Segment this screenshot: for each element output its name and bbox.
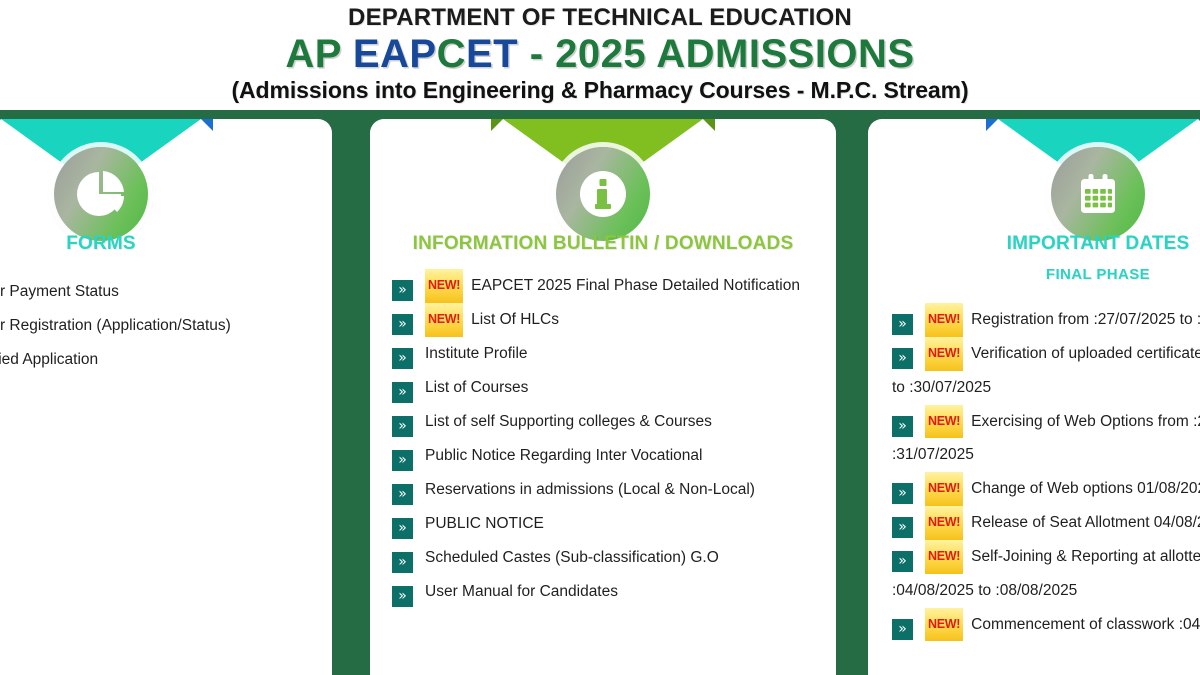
ribbon-tab-right — [201, 119, 213, 131]
list-item[interactable]: »PUBLIC NOTICE — [392, 507, 822, 541]
new-badge: NEW! — [425, 269, 463, 303]
list-item[interactable]: »NEW!EAPCET 2025 Final Phase Detailed No… — [392, 269, 822, 303]
list-item[interactable]: »NEW!Verification of uploaded certificat… — [892, 337, 1200, 404]
list-item-label: Change of Web options 01/08/2025 — [971, 480, 1200, 497]
list-item[interactable]: »Know Your Registration (Application/Sta… — [0, 309, 318, 343]
ribbon-tab-left — [491, 119, 503, 131]
list-item[interactable]: »NEW!List Of HLCs — [392, 303, 822, 337]
page-subtitle: (Admissions into Engineering & Pharmacy … — [0, 77, 1200, 103]
dates-heading: IMPORTANT DATES — [868, 233, 1200, 255]
chevron-right-icon: » — [392, 484, 413, 505]
list-item-label: Print Verified Application — [0, 351, 98, 368]
new-badge: NEW! — [925, 303, 963, 337]
list-item-label: Know Your Registration (Application/Stat… — [0, 317, 231, 334]
forms-list: »Know Your Payment Status »Know Your Reg… — [0, 275, 318, 377]
dates-subheading: FINAL PHASE — [868, 266, 1200, 283]
new-badge: NEW! — [925, 472, 963, 506]
new-badge: NEW! — [925, 608, 963, 642]
info-circle-icon — [556, 147, 650, 241]
chevron-right-icon: » — [392, 348, 413, 369]
list-item[interactable]: »Institute Profile — [392, 337, 822, 371]
list-item-label: Scheduled Castes (Sub-classification) G.… — [425, 549, 719, 566]
chevron-right-icon: » — [392, 552, 413, 573]
chevron-right-icon: » — [892, 314, 913, 335]
new-badge: NEW! — [925, 506, 963, 540]
title-part-1: AP — [285, 32, 352, 76]
title-part-4: ET — [466, 32, 518, 76]
list-item[interactable]: »NEW!Release of Seat Allotment 04/08/202… — [892, 506, 1200, 540]
new-badge: NEW! — [925, 337, 963, 371]
list-item[interactable]: »NEW!Commencement of classwork :04/08/20… — [892, 608, 1200, 642]
list-item[interactable]: »User Manual for Candidates — [392, 575, 822, 609]
chevron-right-icon: » — [892, 483, 913, 504]
list-item[interactable]: »NEW!Registration from :27/07/2025 to :3… — [892, 303, 1200, 337]
list-item-label: User Manual for Candidates — [425, 583, 618, 600]
title-part-3: C — [437, 32, 466, 76]
chevron-right-icon: » — [392, 314, 413, 335]
chevron-right-icon: » — [392, 416, 413, 437]
list-item-label: Institute Profile — [425, 345, 528, 362]
list-item[interactable]: »List of Courses — [392, 371, 822, 405]
page-root: DEPARTMENT OF TECHNICAL EDUCATION AP EAP… — [0, 0, 1200, 675]
list-item-label: Public Notice Regarding Inter Vocational — [425, 447, 702, 464]
chevron-right-icon: » — [892, 619, 913, 640]
new-badge: NEW! — [925, 405, 963, 439]
chevron-right-icon: » — [392, 280, 413, 301]
list-item[interactable]: »Know Your Payment Status — [0, 275, 318, 309]
list-item[interactable]: »Reservations in admissions (Local & Non… — [392, 473, 822, 507]
new-badge: NEW! — [425, 303, 463, 337]
forms-icon-wrapper — [54, 147, 148, 241]
list-item-label: Reservations in admissions (Local & Non-… — [425, 481, 755, 498]
list-item-label: PUBLIC NOTICE — [425, 515, 544, 532]
department-line: DEPARTMENT OF TECHNICAL EDUCATION — [0, 0, 1200, 31]
new-badge: NEW! — [925, 540, 963, 574]
list-item[interactable]: »List of self Supporting colleges & Cour… — [392, 405, 822, 439]
ribbon-tab-left — [986, 119, 998, 131]
info-heading: INFORMATION BULLETIN / DOWNLOADS — [370, 233, 836, 255]
forms-heading: FORMS — [0, 233, 332, 255]
list-item-label: Know Your Payment Status — [0, 283, 119, 300]
chevron-right-icon: » — [892, 517, 913, 538]
list-item-label: Release of Seat Allotment 04/08/2025 — [971, 514, 1200, 531]
chevron-right-icon: » — [892, 416, 913, 437]
pie-chart-icon — [54, 147, 148, 241]
list-item[interactable]: »NEW!Change of Web options 01/08/2025 — [892, 472, 1200, 506]
chevron-right-icon: » — [892, 551, 913, 572]
list-item-label: List of self Supporting colleges & Cours… — [425, 413, 712, 430]
list-item[interactable]: »Public Notice Regarding Inter Vocationa… — [392, 439, 822, 473]
chevron-right-icon: » — [892, 348, 913, 369]
card-important-dates: IMPORTANT DATES FINAL PHASE »NEW!Registr… — [868, 119, 1200, 675]
list-item-label: Commencement of classwork :04/08/2025 — [971, 616, 1200, 633]
list-item[interactable]: »NEW!Self-Joining & Reporting at allotte… — [892, 540, 1200, 607]
chevron-right-icon: » — [392, 518, 413, 539]
card-information-bulletin: INFORMATION BULLETIN / DOWNLOADS »NEW!EA… — [370, 119, 836, 675]
info-list: »NEW!EAPCET 2025 Final Phase Detailed No… — [392, 269, 822, 609]
page-title: AP EAPCET - 2025 ADMISSIONS — [0, 31, 1200, 77]
list-item[interactable]: »NEW!Exercising of Web Options from :28/… — [892, 405, 1200, 472]
chevron-right-icon: » — [392, 586, 413, 607]
title-part-2: EAP — [353, 32, 437, 76]
dates-icon-wrapper — [1051, 147, 1145, 241]
chevron-right-icon: » — [392, 450, 413, 471]
list-item-label: List Of HLCs — [471, 311, 559, 328]
list-item[interactable]: »Print Verified Application — [0, 343, 318, 377]
card-forms: FORMS »Know Your Payment Status »Know Yo… — [0, 119, 332, 675]
title-part-5: - 2025 ADMISSIONS — [518, 32, 915, 76]
calendar-icon — [1051, 147, 1145, 241]
list-item-label: Registration from :27/07/2025 to :30/07/… — [971, 311, 1200, 328]
info-icon-wrapper — [556, 147, 650, 241]
ribbon-tab-right — [703, 119, 715, 131]
list-item-label: EAPCET 2025 Final Phase Detailed Notific… — [471, 277, 800, 294]
chevron-right-icon: » — [392, 382, 413, 403]
page-header: DEPARTMENT OF TECHNICAL EDUCATION AP EAP… — [0, 0, 1200, 110]
dates-list: »NEW!Registration from :27/07/2025 to :3… — [892, 303, 1200, 642]
list-item-label: List of Courses — [425, 379, 528, 396]
list-item[interactable]: »Scheduled Castes (Sub-classification) G… — [392, 541, 822, 575]
